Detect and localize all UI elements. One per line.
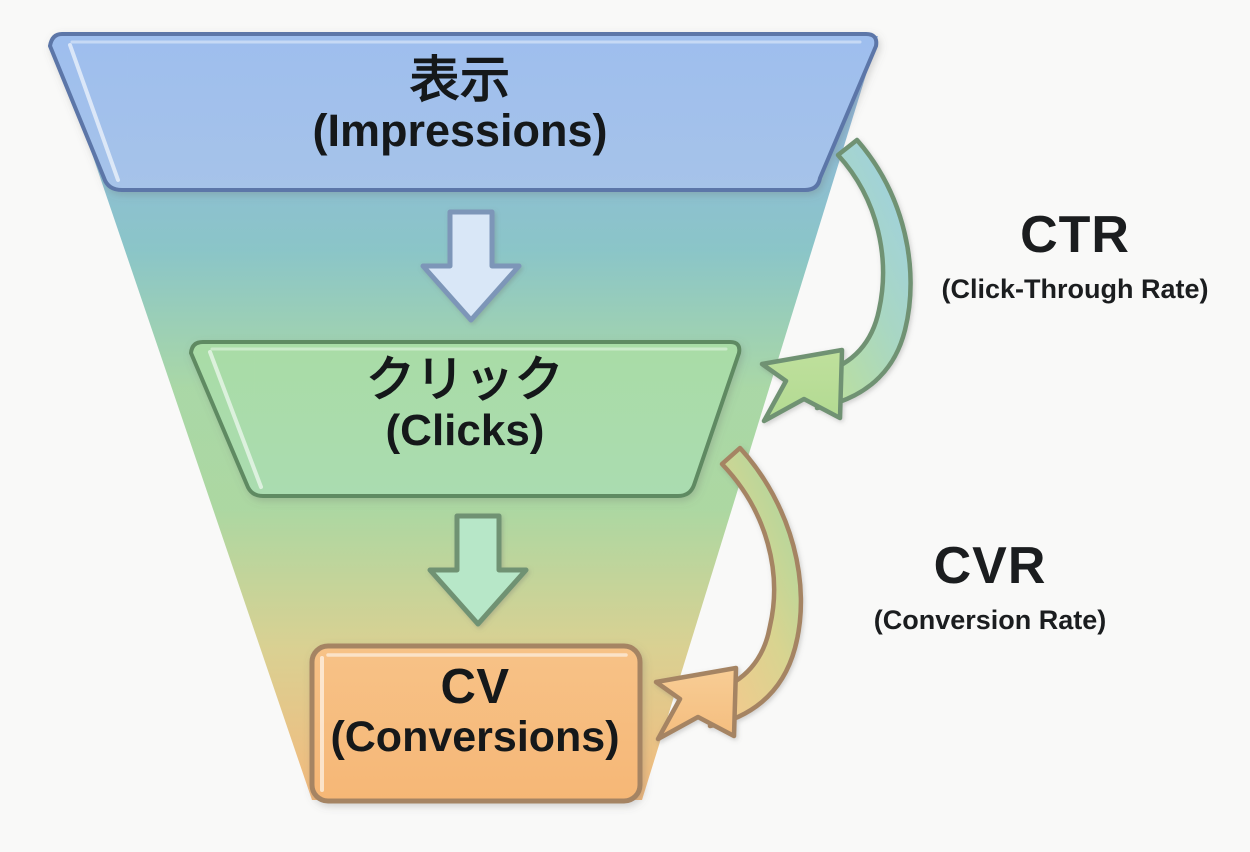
funnel-graphic: [0, 0, 1250, 852]
stage-plate-cv[interactable]: [312, 646, 640, 801]
stage-plate-impressions[interactable]: [50, 34, 876, 190]
stage-plate-clicks[interactable]: [191, 342, 739, 496]
funnel-diagram: 表示 (Impressions) クリック (Clicks) CV (Conve…: [0, 0, 1250, 852]
